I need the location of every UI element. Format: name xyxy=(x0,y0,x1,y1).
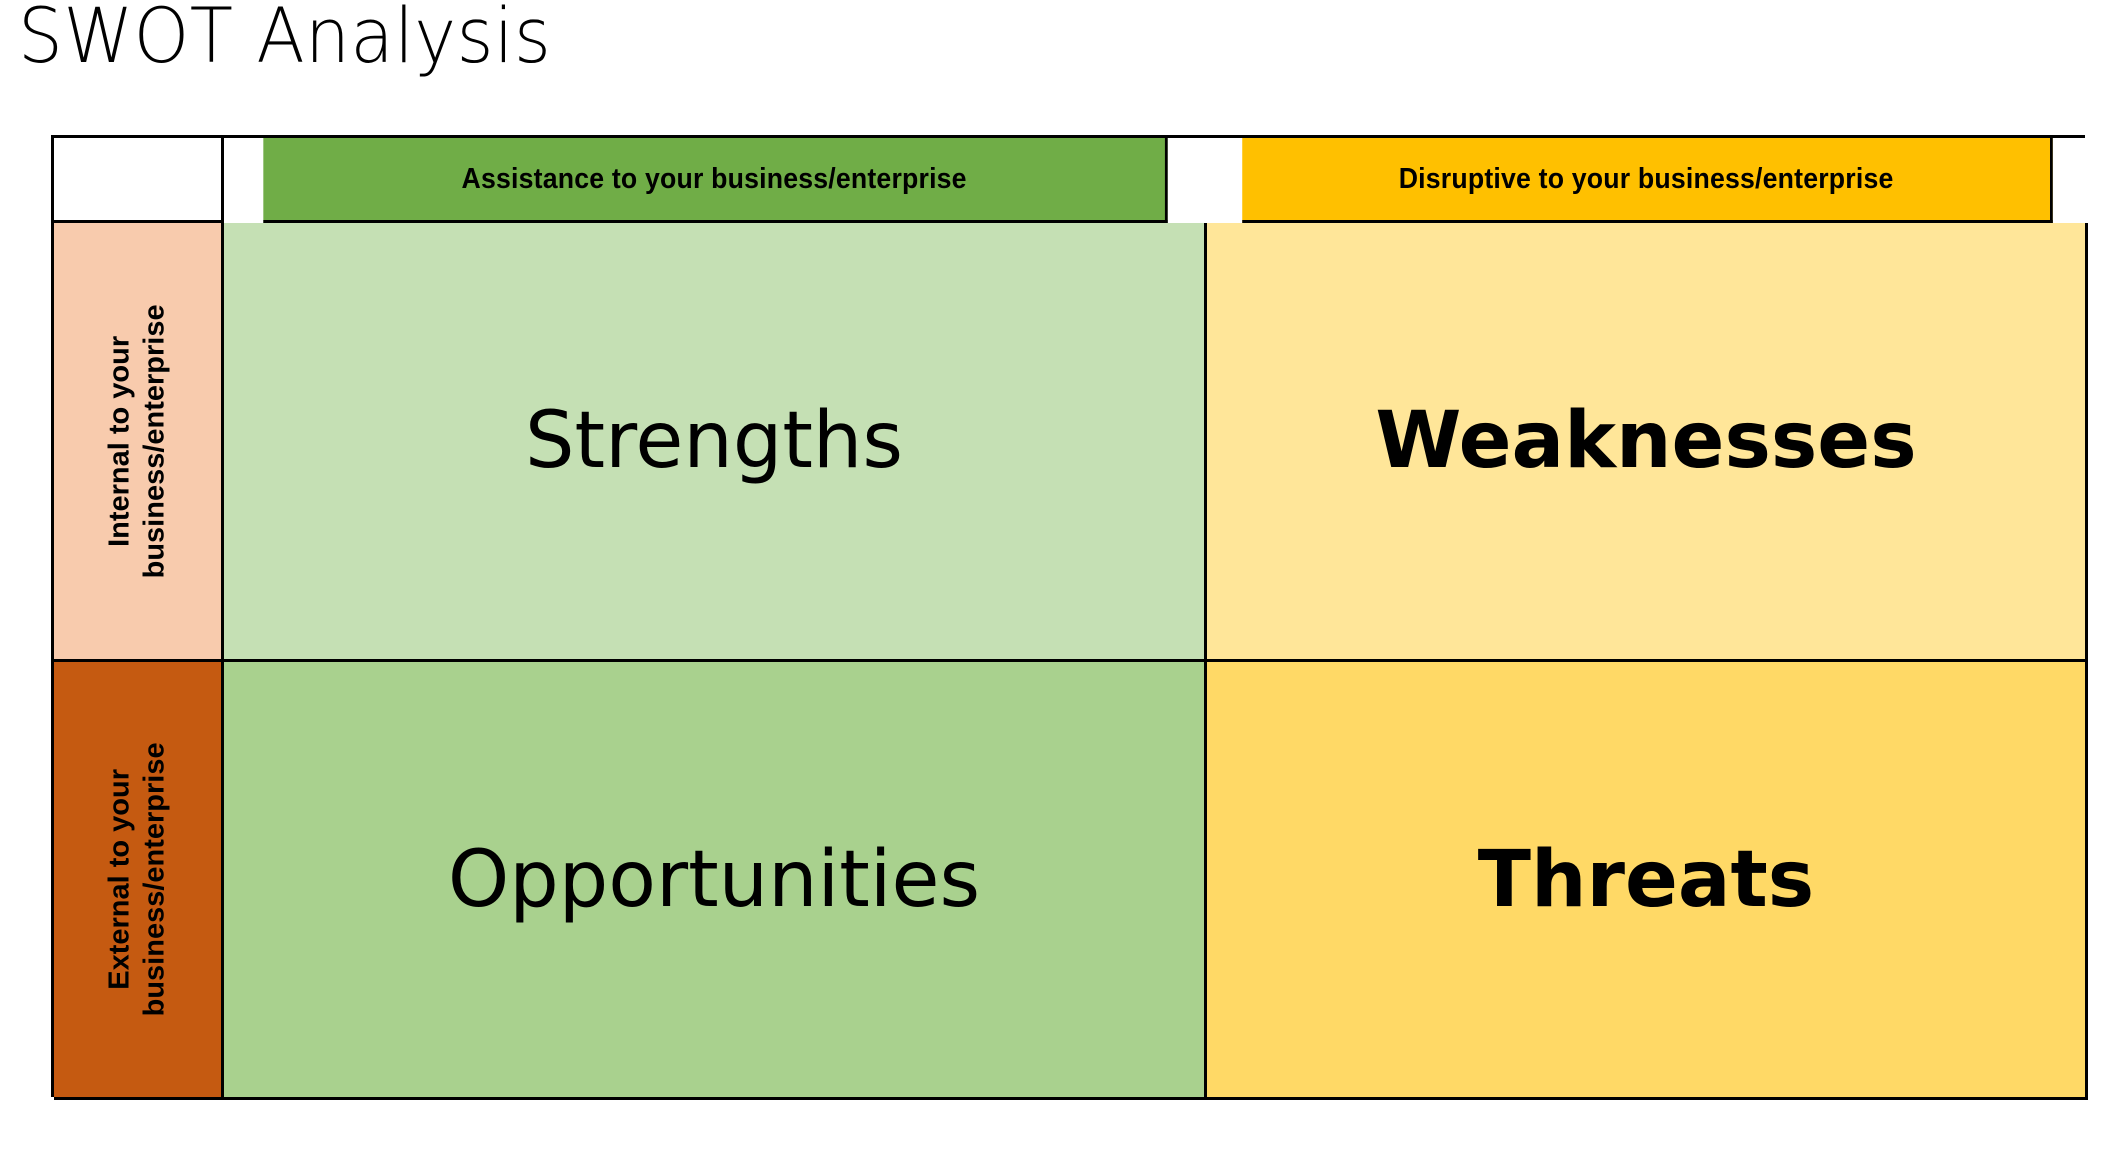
page-title: SWOT Analysis xyxy=(18,0,551,79)
column-header-assistance-label: Assistance to your business/enterprise xyxy=(462,163,967,196)
row-header-internal-text: Internal to your business/enterprise xyxy=(102,304,173,578)
quadrant-threats-label: Threats xyxy=(1478,841,1814,919)
quadrant-strengths: Strengths xyxy=(224,223,1207,662)
column-header-disruptive: Disruptive to your business/enterprise xyxy=(1242,138,2053,223)
quadrant-strengths-label: Strengths xyxy=(525,402,903,480)
row-header-internal-line2: business/enterprise xyxy=(139,304,171,578)
row-header-external: External to your business/enterprise xyxy=(54,662,224,1100)
row-header-internal-line1: Internal to your xyxy=(103,335,135,546)
row-header-external-text: External to your business/enterprise xyxy=(102,743,173,1017)
quadrant-opportunities: Opportunities xyxy=(224,662,1207,1100)
swot-matrix: Assistance to your business/enterprise D… xyxy=(51,135,2085,1097)
quadrant-weaknesses-label: Weaknesses xyxy=(1375,402,1916,480)
matrix-corner-cell xyxy=(54,138,224,223)
quadrant-opportunities-label: Opportunities xyxy=(448,841,980,919)
quadrant-weaknesses: Weaknesses xyxy=(1207,223,2088,662)
column-header-assistance: Assistance to your business/enterprise xyxy=(263,138,1167,223)
quadrant-threats: Threats xyxy=(1207,662,2088,1100)
column-header-disruptive-label: Disruptive to your business/enterprise xyxy=(1399,163,1894,196)
row-header-external-line1: External to your xyxy=(103,769,135,990)
row-header-external-line2: business/enterprise xyxy=(139,743,171,1017)
row-header-internal: Internal to your business/enterprise xyxy=(54,223,224,662)
